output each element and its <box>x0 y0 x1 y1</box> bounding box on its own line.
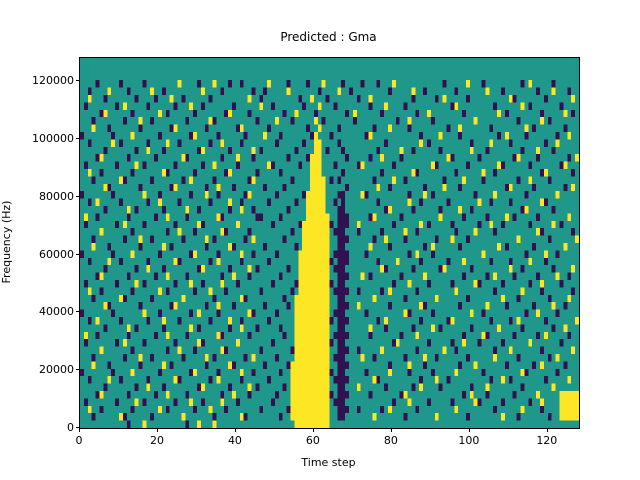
y-tick-label: 20000 <box>0 363 74 375</box>
y-tick-label: 80000 <box>0 190 74 202</box>
x-tick-mark <box>547 429 548 433</box>
heatmap-plot-area[interactable] <box>79 57 580 429</box>
x-tick-label: 0 <box>59 434 99 447</box>
x-tick-mark <box>235 429 236 433</box>
matplotlib-figure: Predicted : Gma Frequency (Hz) 020000400… <box>0 0 640 480</box>
y-tick-label: 40000 <box>0 305 74 317</box>
x-tick-mark <box>313 429 314 433</box>
x-tick-mark <box>469 429 470 433</box>
heatmap-image <box>80 58 579 428</box>
x-axis-label: Time step <box>79 456 578 469</box>
y-tick-label: 120000 <box>0 74 74 86</box>
x-tick-label: 40 <box>215 434 255 447</box>
x-tick-label: 120 <box>527 434 567 447</box>
x-tick-label: 20 <box>137 434 177 447</box>
x-tick-mark <box>157 429 158 433</box>
y-tick-label: 0 <box>0 421 74 433</box>
x-tick-label: 60 <box>293 434 333 447</box>
x-tick-label: 100 <box>449 434 489 447</box>
y-tick-label: 60000 <box>0 248 74 260</box>
page-title: Predicted : Gma <box>79 30 578 44</box>
x-tick-mark <box>79 429 80 433</box>
y-tick-label: 100000 <box>0 132 74 144</box>
x-tick-mark <box>391 429 392 433</box>
x-tick-label: 80 <box>371 434 411 447</box>
